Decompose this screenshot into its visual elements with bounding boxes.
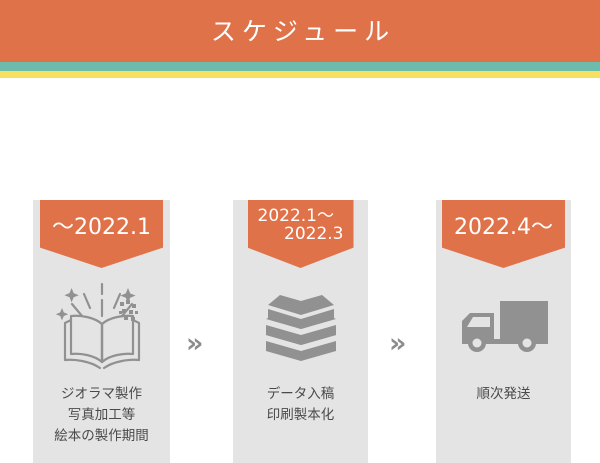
step-1-caption-line-2: 写真加工等 [54,405,149,426]
step-3-icon-area [456,270,552,382]
open-book-sparkle-icon [50,278,154,374]
schedule-step-3: 2022.4〜 [436,200,571,463]
step-3-caption: 順次発送 [477,384,531,405]
header-stripe-yellow [0,71,600,78]
step-1-caption-line-1: ジオラマ製作 [54,384,149,405]
step-3-caption-line-1: 順次発送 [477,384,531,405]
schedule-timeline: 〜2022.1 [0,78,600,459]
page-title: スケジュール [205,19,395,44]
step-1-caption: ジオラマ製作 写真加工等 絵本の製作期間 [54,384,149,447]
step-2-date-banner: 2022.1〜 2022.3 [248,200,354,268]
schedule-step-1: 〜2022.1 [33,200,170,463]
step-2-caption: データ入稿 印刷製本化 [267,384,335,426]
step-2-caption-line-1: データ入稿 [267,384,335,405]
arrow-separator-1: » [186,330,203,357]
step-3-date-banner: 2022.4〜 [442,200,565,268]
step-1-date-banner: 〜2022.1 [40,200,163,268]
header-stripe-teal [0,62,600,71]
step-2-date-line-2: 2022.3 [258,226,344,244]
step-2-caption-line-2: 印刷製本化 [267,405,335,426]
delivery-truck-icon [456,295,552,357]
arrow-separator-2: » [389,330,406,357]
step-1-date-line-1: 〜2022.1 [50,208,153,239]
page-header: スケジュール [0,0,600,62]
step-1-caption-line-3: 絵本の製作期間 [54,426,149,447]
step-1-icon-area [50,270,154,382]
step-2-icon-area [258,270,344,382]
step-3-date-line-1: 2022.4〜 [452,208,555,239]
book-stack-icon [258,287,344,365]
schedule-step-2: 2022.1〜 2022.3 データ入稿 印 [233,200,368,463]
